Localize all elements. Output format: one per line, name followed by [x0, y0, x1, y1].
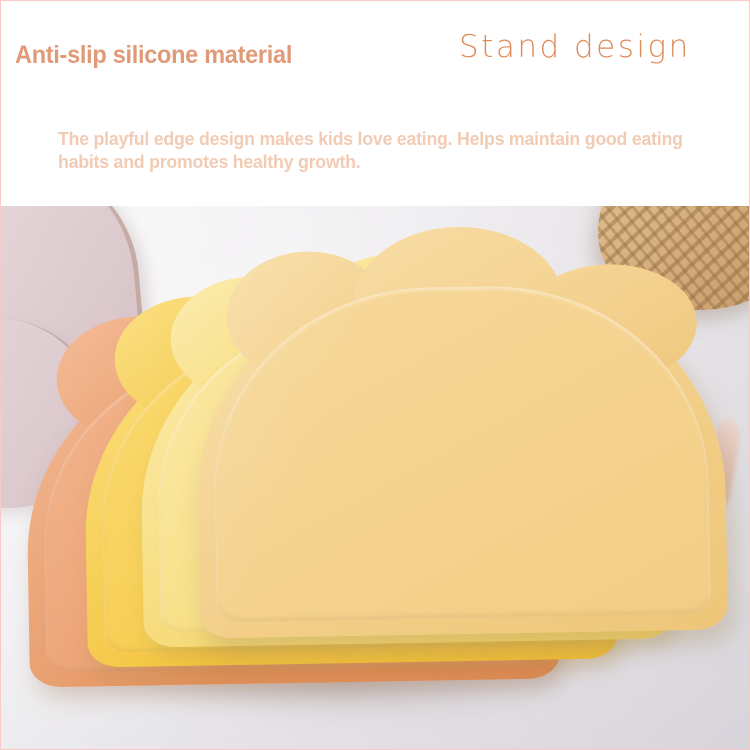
banner-header: Anti-slip silicone material Stand design… [1, 1, 749, 206]
product-photo [1, 206, 750, 750]
headline-anti-slip: Anti-slip silicone material [15, 41, 292, 70]
placemat-butter-yellow [194, 269, 728, 638]
headline-stand-design: Stand design [459, 29, 691, 65]
banner-description: The playful edge design makes kids love … [58, 127, 720, 173]
product-banner: Anti-slip silicone material Stand design… [0, 0, 750, 750]
placemat-stack [1, 206, 750, 750]
